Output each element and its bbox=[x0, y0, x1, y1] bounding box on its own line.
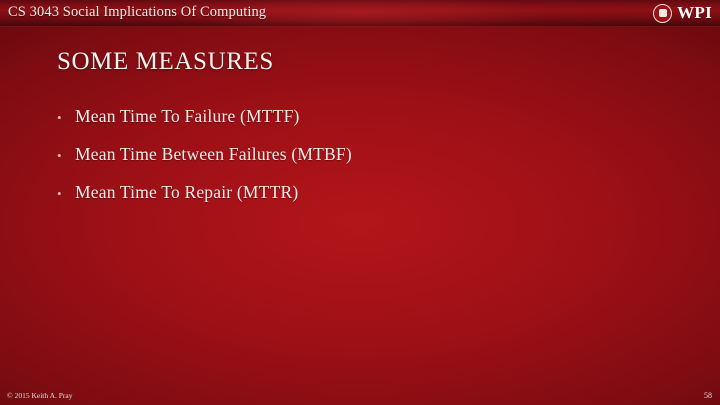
page-title: SOME MEASURES bbox=[57, 48, 274, 76]
slide-header-bar: CS 3043 Social Implications Of Computing… bbox=[0, 0, 720, 27]
wpi-seal-icon bbox=[653, 4, 672, 23]
bullet-dot-icon: • bbox=[57, 111, 75, 124]
list-item: • Mean Time To Failure (MTTF) bbox=[57, 106, 657, 127]
bullet-dot-icon: • bbox=[57, 149, 75, 162]
slide-number: 58 bbox=[704, 391, 712, 400]
list-item-label: Mean Time To Repair (MTTR) bbox=[75, 182, 298, 203]
course-title: CS 3043 Social Implications Of Computing bbox=[8, 4, 266, 21]
copyright-notice: © 2015 Keith A. Pray bbox=[7, 391, 73, 400]
list-item-label: Mean Time To Failure (MTTF) bbox=[75, 106, 300, 127]
wpi-logo: WPI bbox=[653, 3, 712, 23]
wpi-logo-text: WPI bbox=[677, 3, 712, 23]
list-item-label: Mean Time Between Failures (MTBF) bbox=[75, 144, 352, 165]
list-item: • Mean Time To Repair (MTTR) bbox=[57, 182, 657, 203]
bullet-dot-icon: • bbox=[57, 187, 75, 200]
presentation-slide: CS 3043 Social Implications Of Computing… bbox=[0, 0, 720, 405]
list-item: • Mean Time Between Failures (MTBF) bbox=[57, 144, 657, 165]
bullet-list: • Mean Time To Failure (MTTF) • Mean Tim… bbox=[57, 106, 657, 220]
